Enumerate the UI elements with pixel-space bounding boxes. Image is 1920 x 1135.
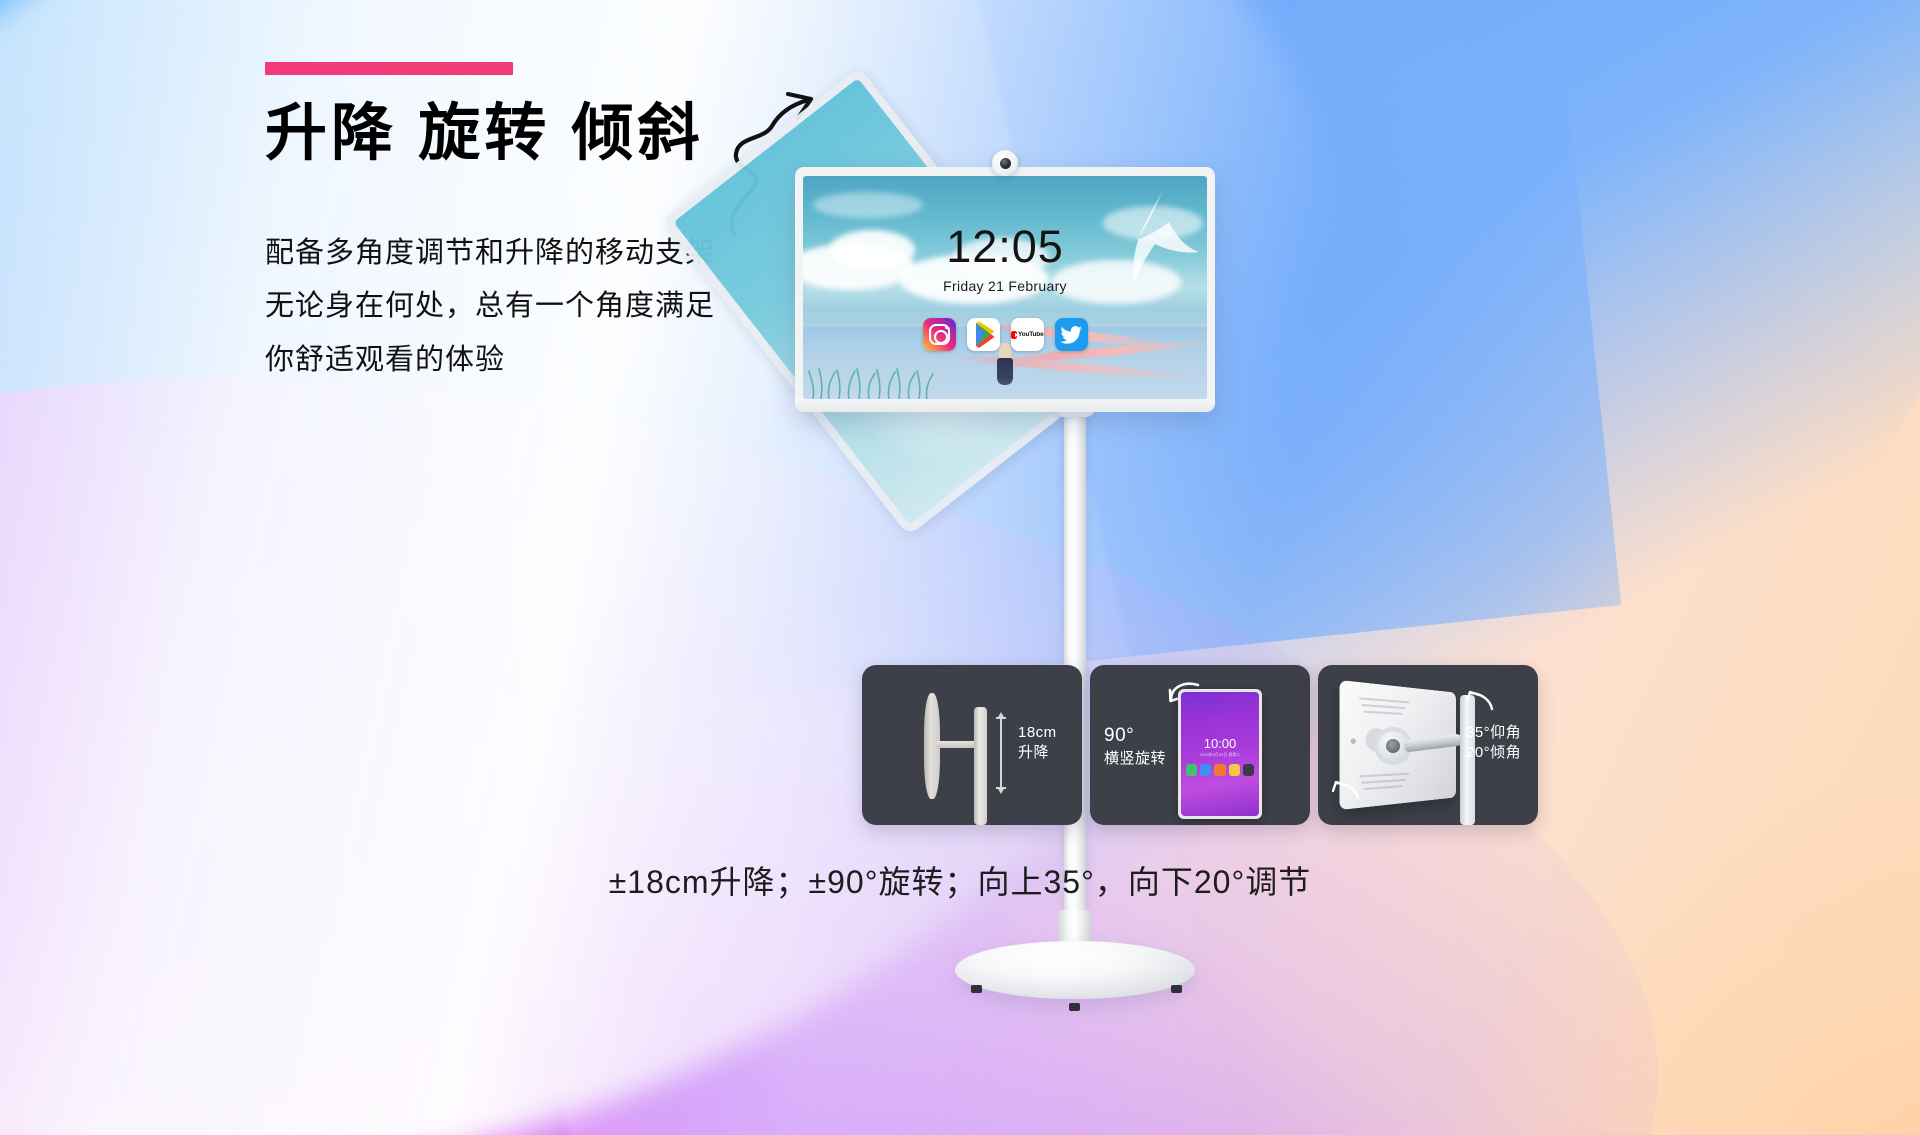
card1-post <box>974 707 987 825</box>
card2-phone-time: 10:00 <box>1181 736 1259 751</box>
youtube-app-icon[interactable]: YouTube <box>1011 318 1044 351</box>
app-dock: YouTube <box>803 318 1207 351</box>
stand-base <box>955 941 1195 1021</box>
subtitle-line-3: 你舒适观看的体验 <box>265 334 825 388</box>
base-foot <box>971 985 982 993</box>
monitor-screen: 12:05 Friday 21 February <box>803 176 1207 399</box>
spec-caption: ±18cm升降；±90°旋转；向上35°，向下20°调节 <box>0 857 1920 903</box>
grass-illustration <box>807 365 937 399</box>
feature-card-rotation[interactable]: 10:00 2025年5月20日 星期二 90° 横竖旋转 <box>1090 665 1310 825</box>
card2-display-screen: 10:00 2025年5月20日 星期二 <box>1181 692 1259 816</box>
webcam-icon <box>992 150 1018 176</box>
clock-time: 12:05 <box>803 224 1207 269</box>
card2-label: 横竖旋转 <box>1104 749 1166 769</box>
card3-label: 20°倾角 <box>1466 743 1521 763</box>
feature-card-row: 18cm 升降 10:00 2025年5月20日 星期二 <box>862 665 1538 825</box>
card3-value: 35°仰角 <box>1466 723 1521 743</box>
twitter-app-icon[interactable] <box>1055 318 1088 351</box>
feature-card-height-adjust[interactable]: 18cm 升降 <box>862 665 1082 825</box>
card1-label: 升降 <box>1018 743 1057 763</box>
lockscreen-clock: 12:05 Friday 21 February <box>803 224 1207 294</box>
clock-date: Friday 21 February <box>803 278 1207 294</box>
card2-phone-date: 2025年5月20日 星期二 <box>1181 752 1259 758</box>
tilt-up-arrow-icon <box>1466 689 1496 713</box>
card1-dimension-line <box>1000 717 1002 789</box>
poster-stage: 升降 旋转 倾斜 配备多角度调节和升降的移动支架 无论身在何处，总有一个角度满足… <box>0 0 1920 1135</box>
card2-value: 90° <box>1104 723 1166 749</box>
card2-vertical-display: 10:00 2025年5月20日 星期二 <box>1178 689 1262 819</box>
card2-phone-dock <box>1186 764 1254 776</box>
base-foot <box>1069 1003 1080 1011</box>
monitor-chin <box>795 399 1215 412</box>
monitor-bezel: 12:05 Friday 21 February <box>795 167 1215 412</box>
base-foot <box>1171 985 1182 993</box>
instagram-app-icon[interactable] <box>923 318 956 351</box>
card1-value: 18cm <box>1018 723 1057 743</box>
stand-base-top <box>955 941 1195 999</box>
main-monitor: 12:05 Friday 21 February <box>795 167 1215 412</box>
google-play-app-icon[interactable] <box>967 318 1000 351</box>
product-illustration: 12:05 Friday 21 February <box>835 55 1315 1065</box>
tilt-down-arrow-icon <box>1332 777 1362 801</box>
feature-card-tilt[interactable]: 35°仰角 20°倾角 <box>1318 665 1538 825</box>
accent-bar <box>265 62 513 75</box>
